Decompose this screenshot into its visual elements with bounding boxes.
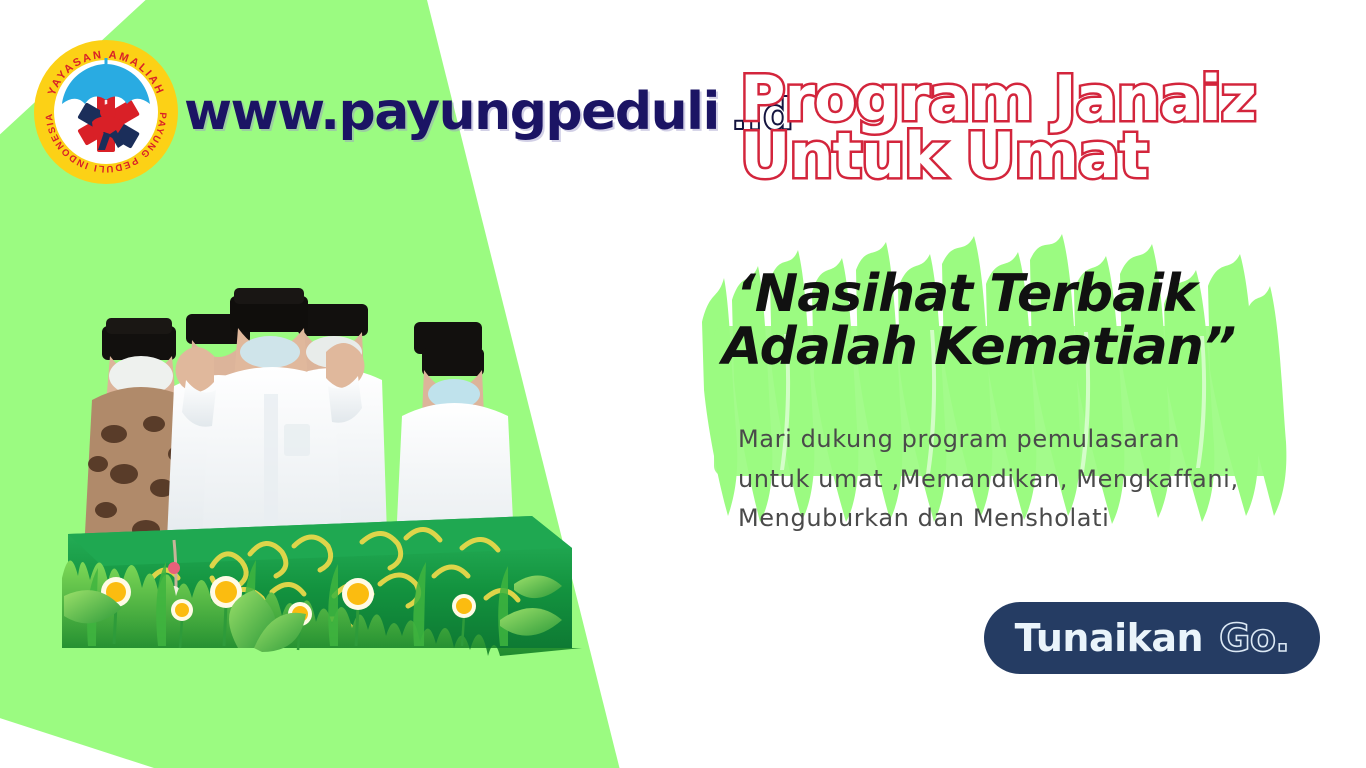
website-url[interactable]: www.payungpeduli .id <box>184 82 794 142</box>
tunaikan-button-label: Tunaikan <box>1015 616 1204 660</box>
headline: Program Janaiz Untuk Umat <box>740 70 1360 184</box>
quote-line-2: Adalah Kematian” <box>722 321 1296 374</box>
funeral-prayer-photo <box>62 248 582 708</box>
description-line-2: untuk umat ,Memandikan, Mengkaffani, <box>738 460 1278 500</box>
description-line-3: Menguburkan dan Mensholati <box>738 499 1278 539</box>
quote-line-1: ‘Nasihat Terbaik <box>736 268 1296 321</box>
url-domain-text: www.payungpeduli <box>184 82 719 142</box>
description-text: Mari dukung program pemulasaran untuk um… <box>738 420 1278 539</box>
description-line-1: Mari dukung program pemulasaran <box>738 420 1278 460</box>
promo-banner: YAYASAN AMALIAH PAYUNG PEDULI INDONESIA … <box>0 0 1366 768</box>
tunaikan-button-go-text: Go. <box>1219 616 1289 660</box>
payung-peduli-logo-icon: YAYASAN AMALIAH PAYUNG PEDULI INDONESIA <box>32 38 180 186</box>
tunaikan-button[interactable]: Tunaikan Go. <box>984 602 1320 674</box>
quote-text: ‘Nasihat Terbaik Adalah Kematian” <box>736 268 1296 374</box>
headline-line-2: Untuk Umat <box>740 127 1360 184</box>
